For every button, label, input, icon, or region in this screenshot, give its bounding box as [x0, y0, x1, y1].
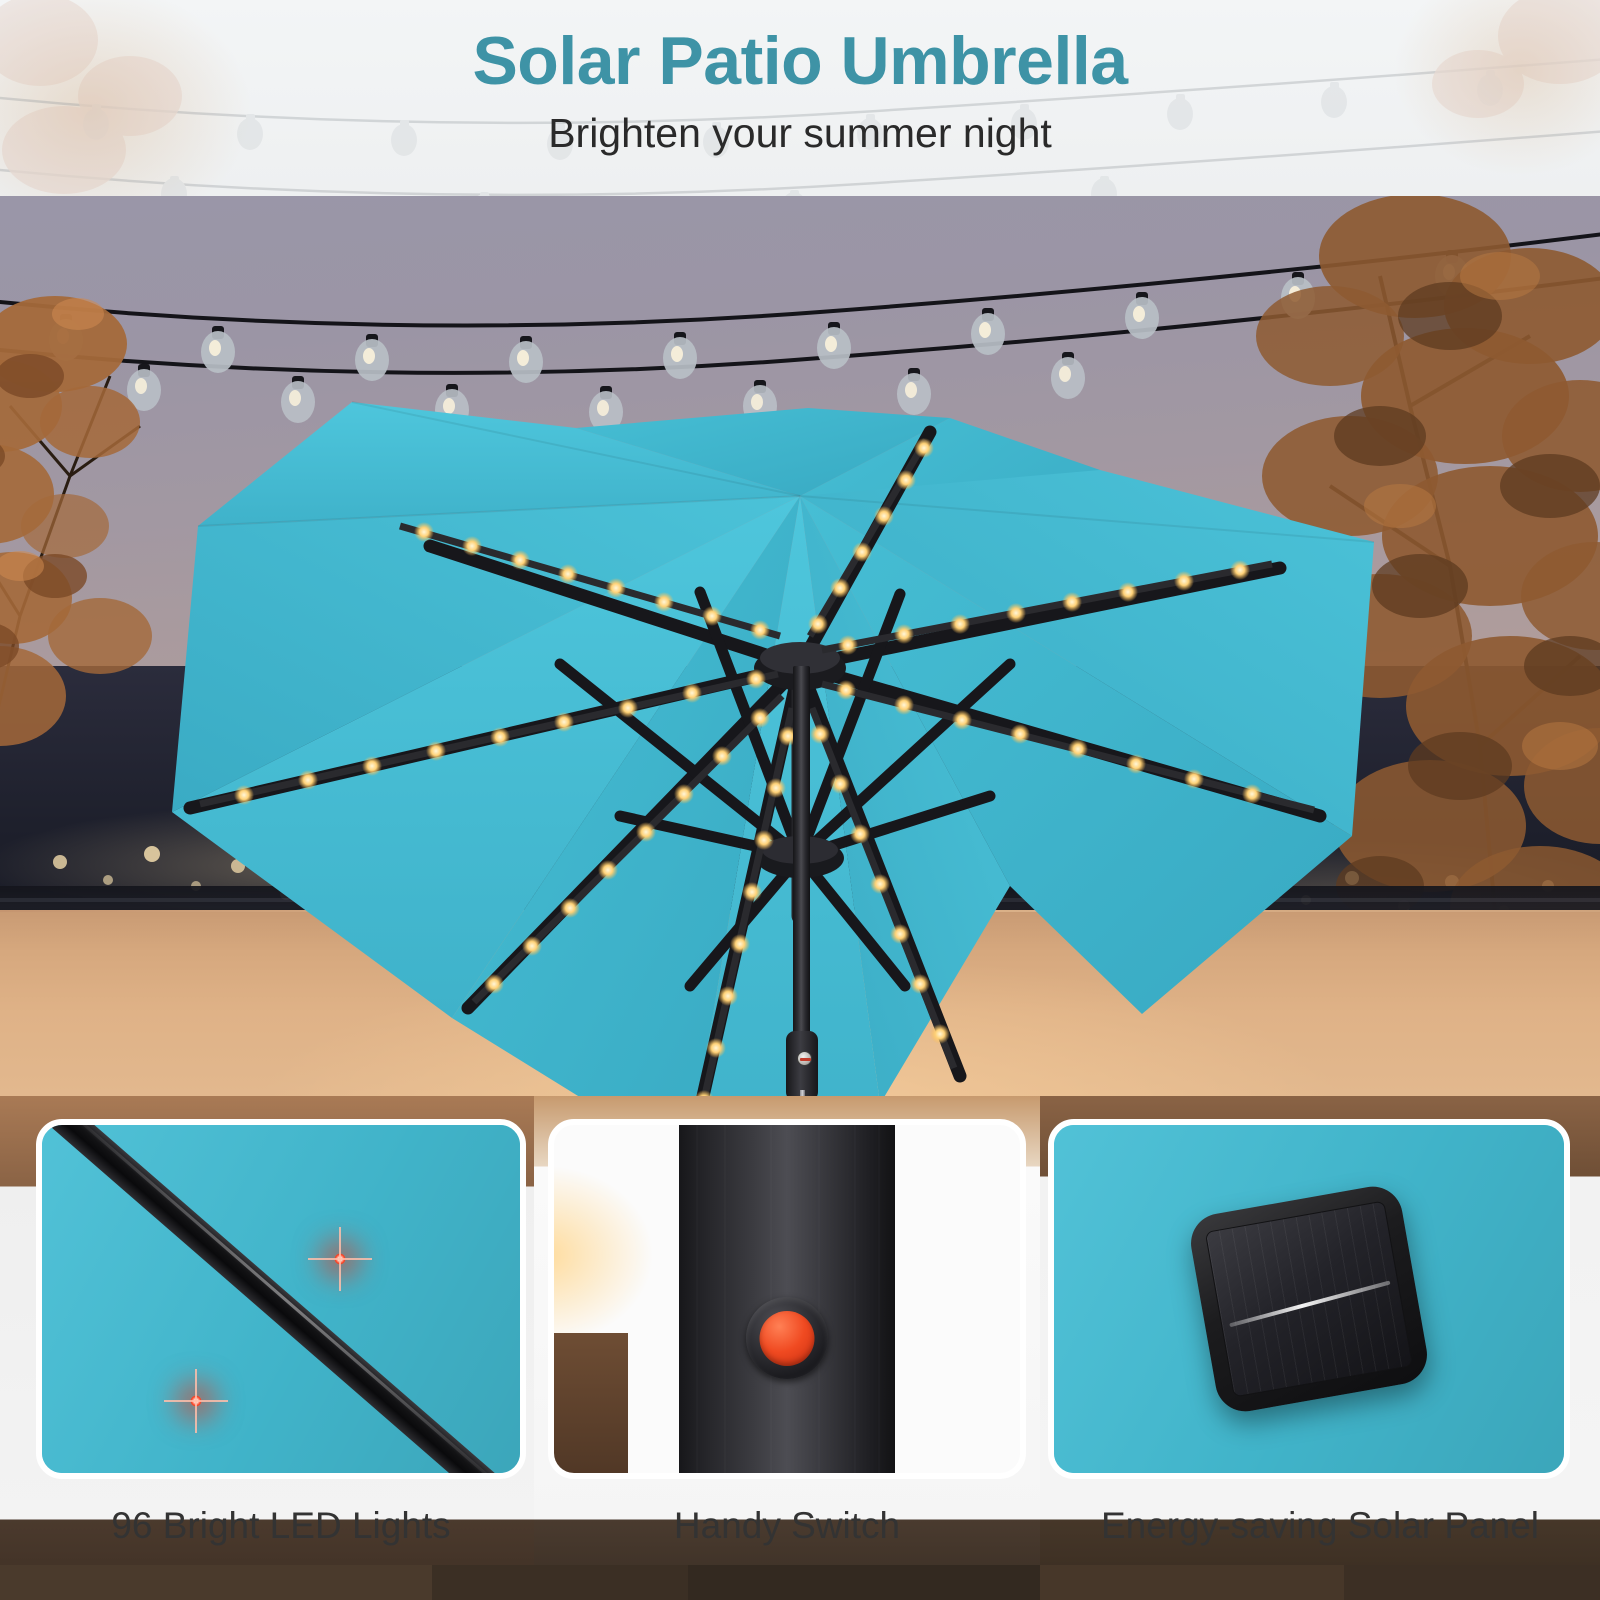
- feature-caption-led-lights: 96 Bright LED Lights: [36, 1496, 526, 1556]
- header-banner: Solar Patio Umbrella Brighten your summe…: [0, 0, 1600, 196]
- feature-caption-solar-panel: Energy-saving Solar Panel: [1040, 1496, 1600, 1556]
- background-wood-edge: [548, 1333, 628, 1479]
- solar-cell-surface: [1205, 1200, 1413, 1397]
- page-title: Solar Patio Umbrella: [0, 27, 1600, 96]
- page-subtitle: Brighten your summer night: [0, 110, 1600, 157]
- solar-panel-highlight: [1229, 1281, 1390, 1328]
- umbrella-canopy: [172, 402, 1374, 1096]
- feature-card-led-lights: [36, 1119, 526, 1479]
- hero-product-photo: [0, 196, 1600, 1096]
- warm-background-glow: [548, 1165, 654, 1345]
- header-text-block: Solar Patio Umbrella Brighten your summe…: [0, 0, 1600, 157]
- feature-card-solar-panel: [1048, 1119, 1570, 1479]
- crank-label-badge: [797, 1051, 812, 1066]
- bottom-photo-edge-strip: [0, 1565, 1600, 1600]
- feature-caption-handy-switch: Handy Switch: [548, 1496, 1026, 1556]
- solar-panel-icon: [1186, 1182, 1431, 1416]
- feature-card-handy-switch: [548, 1119, 1026, 1479]
- red-led-sparkle: [190, 1395, 202, 1407]
- power-switch-icon[interactable]: [760, 1311, 815, 1366]
- product-infographic: Solar Patio Umbrella Brighten your summe…: [0, 0, 1600, 1600]
- red-led-sparkle: [334, 1253, 346, 1265]
